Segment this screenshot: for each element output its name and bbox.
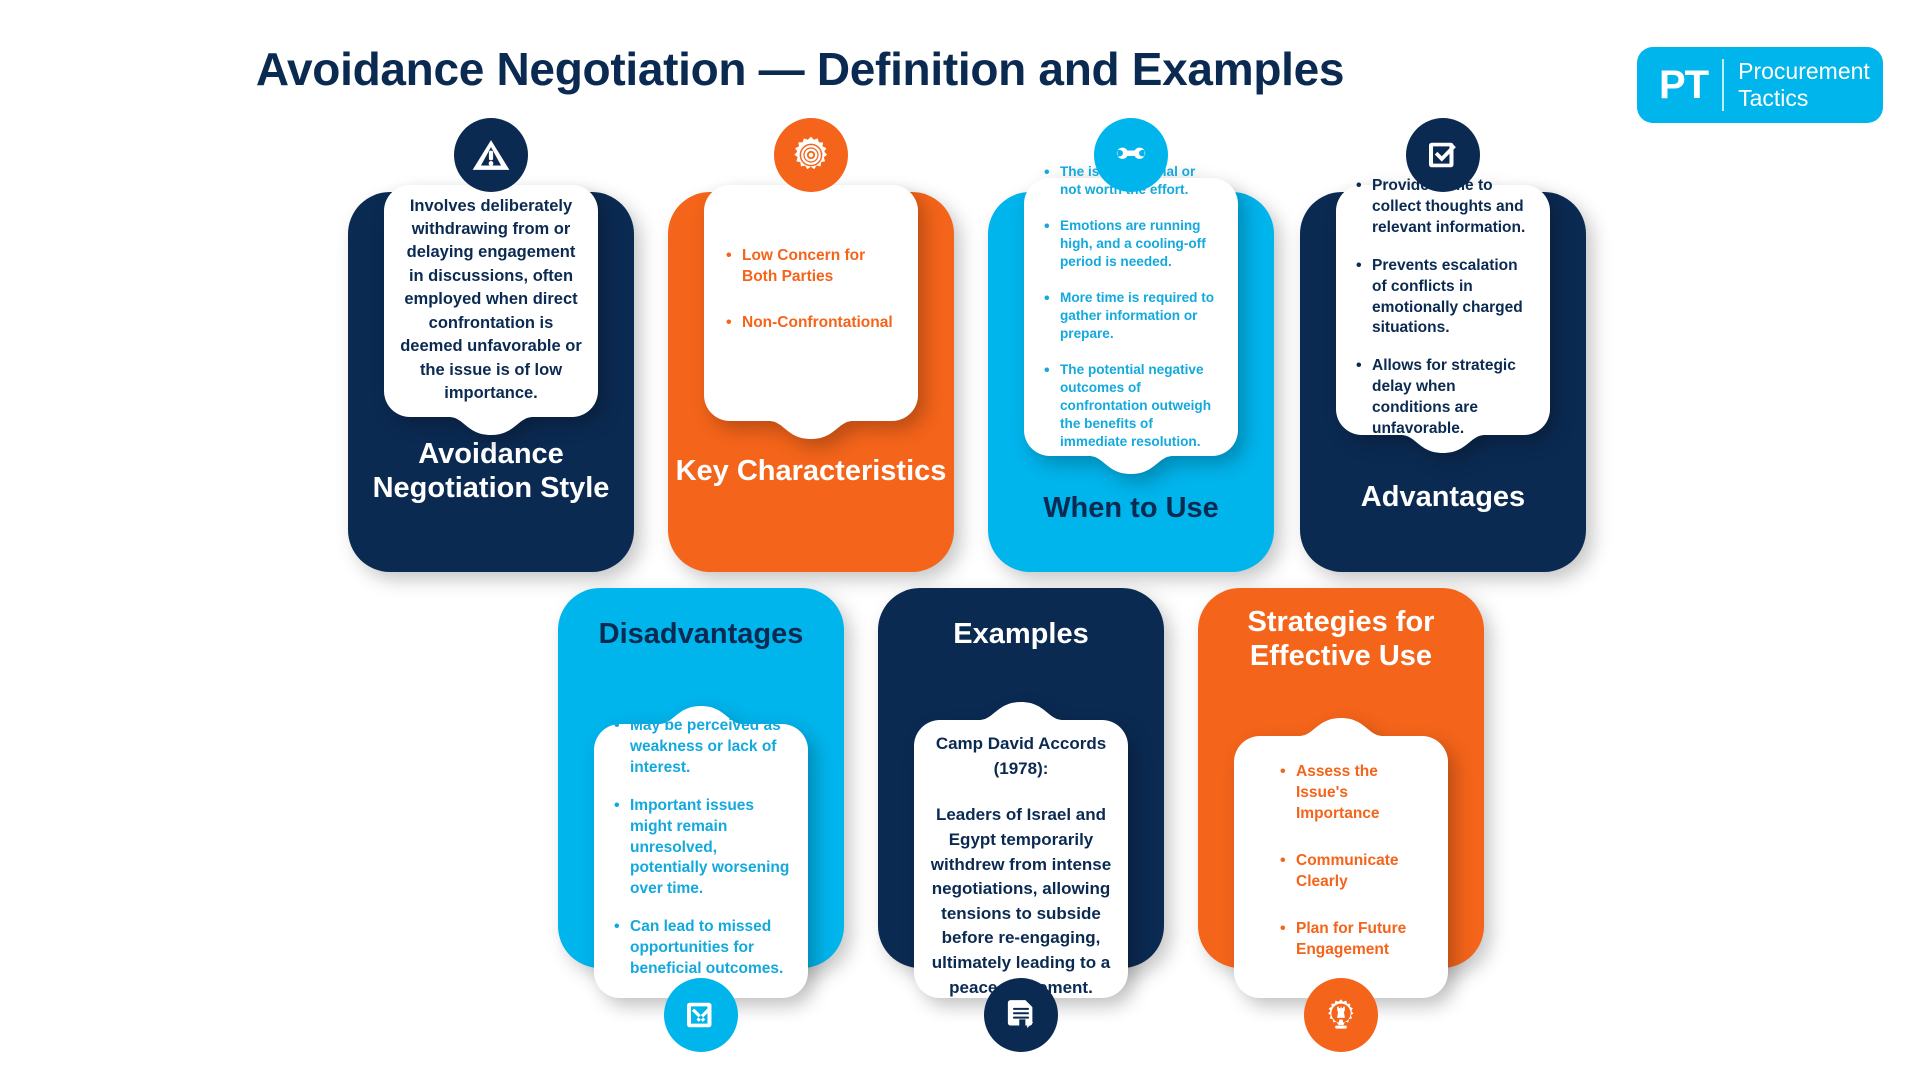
list-item: Allows for strategic delay when conditio…	[1356, 356, 1534, 440]
card-paragraph: Involves deliberately withdrawing from o…	[398, 195, 584, 406]
card-panel-avoidance-negotiation-style: Involves deliberately withdrawing from o…	[384, 185, 598, 435]
gear-target-icon	[774, 118, 848, 192]
list-item: Plan for Future Engagement	[1280, 919, 1432, 961]
list-item: Communicate Clearly	[1280, 851, 1432, 893]
list-item: Prevents escalation of conflicts in emot…	[1356, 256, 1534, 340]
infographic-canvas: Avoidance Negotiation — Definition and E…	[0, 0, 1920, 1080]
card-bullet-list: Low Concern for Both Parties Non-Confron…	[726, 246, 898, 361]
cross-box-icon	[664, 978, 738, 1052]
card-paragraph-heading: Camp David Accords (1978):	[928, 732, 1114, 781]
logo-divider	[1722, 59, 1724, 111]
brand-logo: PT Procurement Tactics	[1637, 47, 1883, 123]
card-bullet-list: Assess the Issue's Importance Communicat…	[1280, 762, 1432, 986]
card-panel-key-characteristics: Low Concern for Both Parties Non-Confron…	[704, 185, 918, 439]
card-paragraph: Leaders of Israel and Egypt temporarily …	[928, 803, 1114, 1000]
card-panel-advantages: Provides time to collect thoughts and re…	[1336, 185, 1550, 453]
card-panel-strategies-for-effective-use: Assess the Issue's Importance Communicat…	[1234, 718, 1448, 998]
panel-text: Camp David Accords (1978): Leaders of Is…	[914, 702, 1128, 998]
card-bullet-list: Provides time to collect thoughts and re…	[1356, 176, 1534, 440]
warning-triangle-icon	[454, 118, 528, 192]
list-item: Emotions are running high, and a cooling…	[1044, 217, 1220, 271]
list-item: Assess the Issue's Importance	[1280, 762, 1432, 825]
list-item: Low Concern for Both Parties	[726, 246, 898, 288]
list-item: More time is required to gather informat…	[1044, 289, 1220, 343]
page-title: Avoidance Negotiation — Definition and E…	[0, 42, 1600, 96]
panel-text: Low Concern for Both Parties Non-Confron…	[704, 185, 918, 439]
list-item: May be perceived as weakness or lack of …	[614, 716, 792, 779]
checkbox-check-icon	[1406, 118, 1480, 192]
logo-word-line1: Procurement	[1738, 58, 1870, 85]
document-icon	[984, 978, 1058, 1052]
card-bullet-list: May be perceived as weakness or lack of …	[614, 716, 792, 980]
chess-gear-icon	[1304, 978, 1378, 1052]
list-item: Non-Confrontational	[726, 313, 898, 334]
card-panel-disadvantages: May be perceived as weakness or lack of …	[594, 706, 808, 998]
list-item: Important issues might remain unresolved…	[614, 796, 792, 901]
panel-text: Assess the Issue's Importance Communicat…	[1234, 718, 1448, 998]
panel-text: Involves deliberately withdrawing from o…	[384, 185, 598, 435]
panel-text: May be perceived as weakness or lack of …	[594, 706, 808, 998]
logo-word-line2: Tactics	[1738, 85, 1870, 112]
logo-wordmark: Procurement Tactics	[1738, 58, 1870, 111]
wrench-icon	[1094, 118, 1168, 192]
list-item: The potential negative outcomes of confr…	[1044, 361, 1220, 451]
list-item: Can lead to missed opportunities for ben…	[614, 917, 792, 980]
panel-text: The issue is trivial or not worth the ef…	[1024, 178, 1238, 474]
card-panel-when-to-use: The issue is trivial or not worth the ef…	[1024, 178, 1238, 474]
card-bullet-list: The issue is trivial or not worth the ef…	[1044, 163, 1220, 470]
panel-text: Provides time to collect thoughts and re…	[1336, 185, 1550, 453]
card-panel-examples: Camp David Accords (1978): Leaders of Is…	[914, 702, 1128, 998]
logo-mark: PT	[1659, 65, 1708, 105]
